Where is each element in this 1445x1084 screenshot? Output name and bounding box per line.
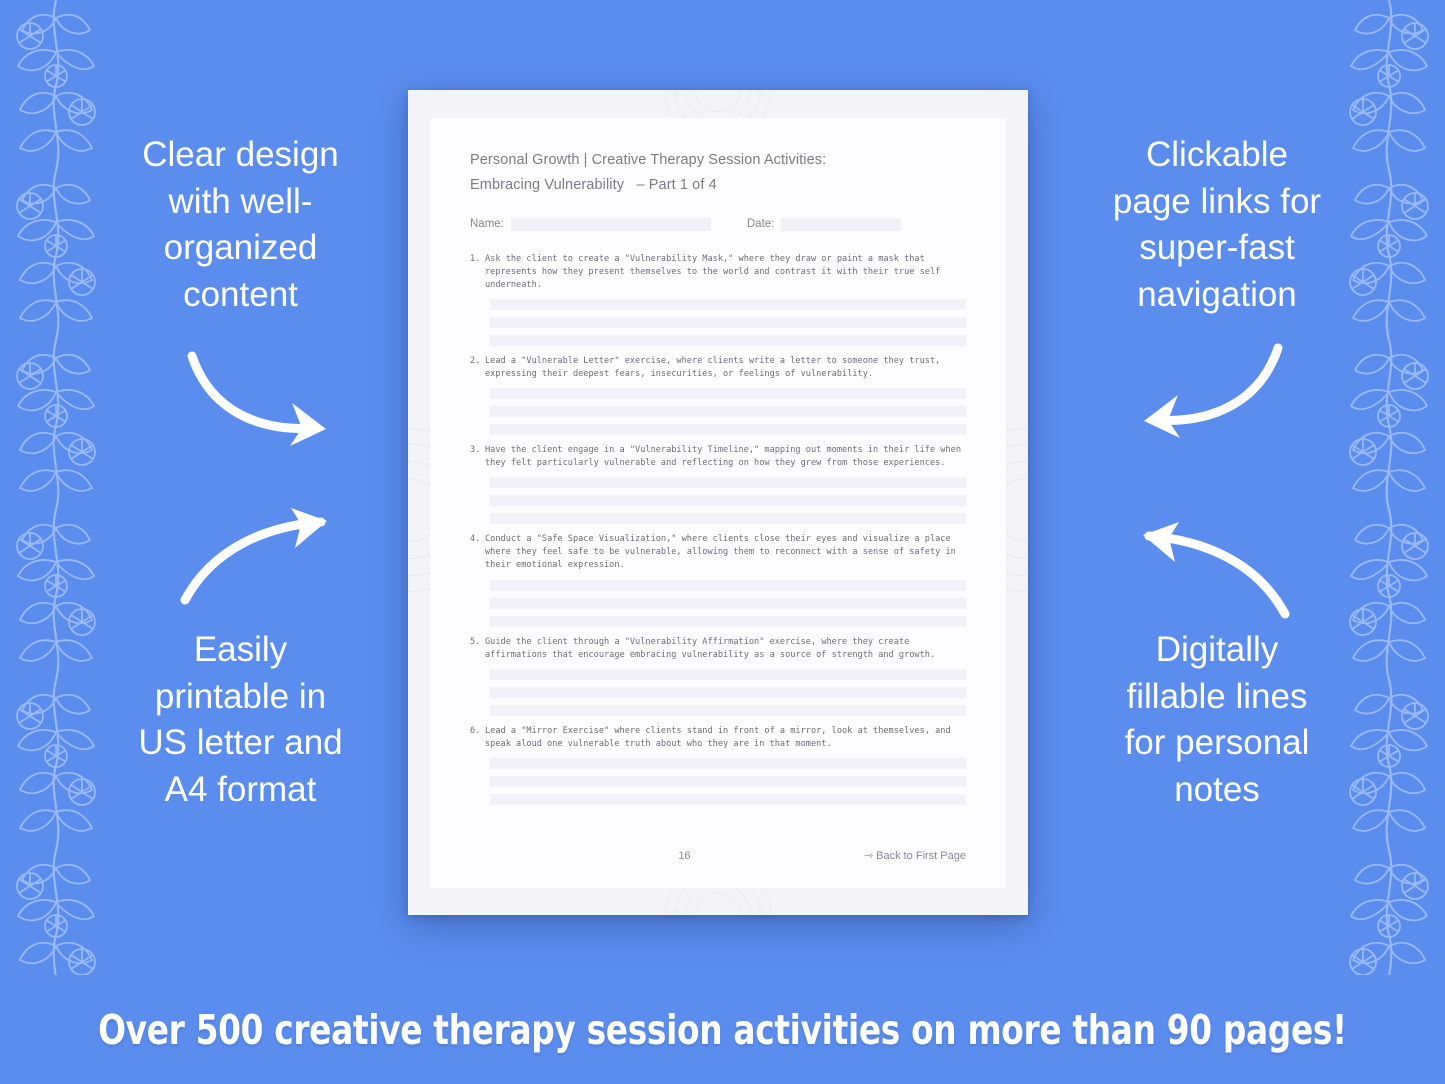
page-number: 16 <box>678 850 690 862</box>
back-to-first-page-link[interactable]: ⇾ Back to First Page <box>864 849 966 862</box>
list-item: 6. Lead a "Mirror Exercise" where client… <box>470 725 966 805</box>
page-footer: 16 ⇾ Back to First Page <box>470 849 966 862</box>
list-item: 3. Have the client engage in a "Vulnerab… <box>470 444 966 524</box>
name-label: Name: <box>470 218 504 230</box>
item-text: Ask the client to create a "Vulnerabilit… <box>485 253 966 292</box>
banner-text: Over 500 creative therapy session activi… <box>98 1006 1347 1054</box>
fillable-line[interactable] <box>490 335 966 346</box>
fillable-line[interactable] <box>490 794 966 805</box>
bottom-banner: Over 500 creative therapy session activi… <box>0 975 1445 1084</box>
item-text: Guide the client through a "Vulnerabilit… <box>485 636 966 662</box>
fillable-lines <box>470 669 966 716</box>
document-page: Personal Growth | Creative Therapy Sessi… <box>430 118 1006 888</box>
fillable-line[interactable] <box>490 705 966 716</box>
item-number: 3. <box>470 444 485 470</box>
list-item: 5. Guide the client through a "Vulnerabi… <box>470 636 966 716</box>
page-title-line2: Embracing Vulnerability – Part 1 of 4 <box>470 177 717 193</box>
fillable-line[interactable] <box>490 477 966 488</box>
fillable-line[interactable] <box>490 513 966 524</box>
fillable-line[interactable] <box>490 758 966 769</box>
fillable-line[interactable] <box>490 388 966 399</box>
item-text: Have the client engage in a "Vulnerabili… <box>485 444 966 470</box>
fillable-line[interactable] <box>490 598 966 609</box>
curved-arrow-bottom-right-icon <box>1130 522 1295 622</box>
fillable-line[interactable] <box>490 580 966 591</box>
fillable-lines <box>470 299 966 346</box>
curved-arrow-top-right-icon <box>1125 340 1290 440</box>
page-title: Personal Growth | Creative Therapy Sessi… <box>470 148 966 198</box>
annotation-clickable-links: Clickable page links for super-fast navi… <box>1061 132 1373 318</box>
list-item: 4. Conduct a "Safe Space Visualization,"… <box>470 533 966 626</box>
page-title-line1: Personal Growth | Creative Therapy Sessi… <box>470 152 826 168</box>
name-date-row: Name: Date: <box>470 218 966 231</box>
item-text: Conduct a "Safe Space Visualization," wh… <box>485 533 966 572</box>
activity-list: 1. Ask the client to create a "Vulnerabi… <box>470 253 966 805</box>
fillable-line[interactable] <box>490 299 966 310</box>
item-number: 6. <box>470 725 485 751</box>
fillable-line[interactable] <box>490 424 966 435</box>
fillable-line[interactable] <box>490 406 966 417</box>
fillable-lines <box>470 388 966 435</box>
annotation-clear-design: Clear design with well- organized conten… <box>88 132 393 318</box>
annotation-printable: Easily printable in US letter and A4 for… <box>88 627 393 813</box>
curved-arrow-bottom-left-icon <box>175 508 340 608</box>
fillable-lines <box>470 580 966 627</box>
document-preview-frame: Personal Growth | Creative Therapy Sessi… <box>408 90 1028 915</box>
list-item: 2. Lead a "Vulnerable Letter" exercise, … <box>470 355 966 435</box>
date-input[interactable] <box>781 218 901 231</box>
date-label: Date: <box>747 218 775 230</box>
fillable-line[interactable] <box>490 687 966 698</box>
annotation-fillable-lines: Digitally fillable lines for personal no… <box>1061 627 1373 813</box>
fillable-line[interactable] <box>490 317 966 328</box>
item-number: 1. <box>470 253 485 292</box>
fillable-lines <box>470 758 966 805</box>
name-input[interactable] <box>511 218 711 231</box>
item-number: 5. <box>470 636 485 662</box>
fillable-line[interactable] <box>490 616 966 627</box>
fillable-line[interactable] <box>490 495 966 506</box>
list-item: 1. Ask the client to create a "Vulnerabi… <box>470 253 966 346</box>
curved-arrow-top-left-icon <box>180 348 345 448</box>
item-text: Lead a "Vulnerable Letter" exercise, whe… <box>485 355 966 381</box>
item-text: Lead a "Mirror Exercise" where clients s… <box>485 725 966 751</box>
item-number: 2. <box>470 355 485 381</box>
fillable-line[interactable] <box>490 776 966 787</box>
fillable-line[interactable] <box>490 669 966 680</box>
fillable-lines <box>470 477 966 524</box>
item-number: 4. <box>470 533 485 572</box>
